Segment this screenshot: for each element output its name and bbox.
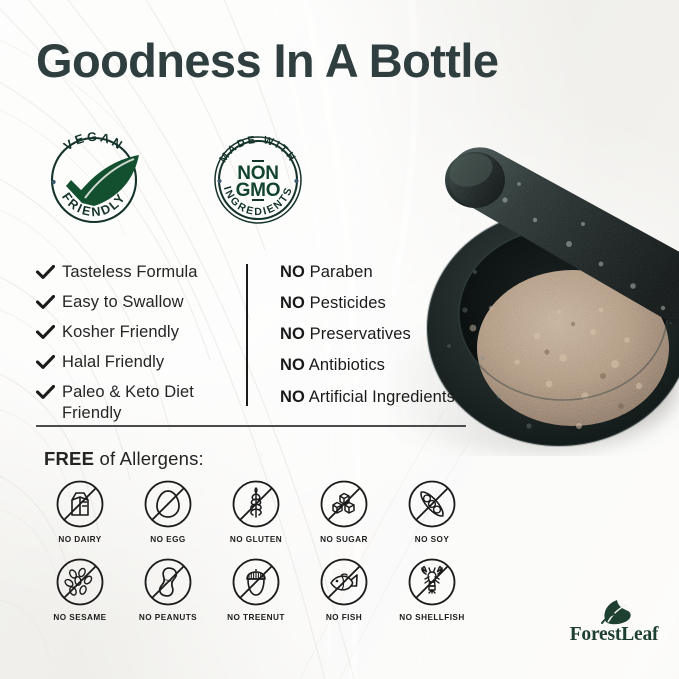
gmo-center-line2: GMO	[236, 180, 281, 201]
list-item: NO Artificial Ingredients	[280, 387, 486, 408]
wheat-icon	[230, 478, 282, 530]
vegan-friendly-badge: VEGAN FRIENDLY	[38, 124, 150, 236]
benefits-list: Tasteless Formula Easy to Swallow Kosher…	[36, 262, 242, 430]
free-from-list: NO Paraben NO Pesticides NO Preservative…	[280, 262, 486, 430]
allergens-heading: FREE of Allergens:	[44, 448, 204, 470]
acorn-icon	[230, 556, 282, 608]
non-gmo-badge: MADE WITH INGREDIENTS NON GMO	[202, 124, 314, 236]
free-from-label: Pesticides	[310, 294, 386, 312]
no-prefix: NO	[280, 294, 305, 312]
allergen-label: NO GLUTEN	[230, 535, 282, 544]
peanut-icon	[142, 556, 194, 608]
allergen-label: NO EGG	[150, 535, 185, 544]
allergen-item-dairy: NO DAIRY	[36, 478, 124, 544]
benefit-label: Halal Friendly	[62, 352, 164, 373]
egg-icon	[142, 478, 194, 530]
brand-name: ForestLeaf	[562, 624, 666, 646]
benefit-label: Easy to Swallow	[62, 292, 184, 313]
check-icon	[36, 382, 62, 405]
free-from-label: Paraben	[310, 263, 373, 281]
no-prefix: NO	[280, 388, 305, 406]
allergen-grid: NO DAIRY NO EGG	[36, 478, 476, 622]
infographic-canvas: Goodness In A Bottle VEGAN FRIENDLY	[0, 0, 679, 679]
list-item: Halal Friendly	[36, 352, 242, 375]
sesame-seeds-icon	[54, 556, 106, 608]
list-item: NO Preservatives	[280, 324, 486, 345]
allergen-label: NO PEANUTS	[139, 613, 197, 622]
vegan-arc-top: VEGAN	[61, 130, 127, 154]
lobster-icon	[406, 556, 458, 608]
allergen-label: NO SOY	[415, 535, 450, 544]
allergen-item-egg: NO EGG	[124, 478, 212, 544]
list-item: NO Paraben	[280, 262, 486, 283]
svg-text:VEGAN: VEGAN	[61, 130, 127, 154]
fish-icon	[318, 556, 370, 608]
free-from-label: Antibiotics	[309, 356, 385, 374]
allergens-heading-bold: FREE	[44, 448, 94, 469]
allergen-item-treenut: NO TREENUT	[212, 556, 300, 622]
allergen-item-fish: NO FISH	[300, 556, 388, 622]
allergen-item-sugar: NO SUGAR	[300, 478, 388, 544]
milk-carton-icon	[54, 478, 106, 530]
check-icon	[36, 262, 62, 285]
allergen-label: NO FISH	[326, 613, 362, 622]
list-item: Paleo & Keto Diet Friendly	[36, 382, 242, 423]
allergen-item-soy: NO SOY	[388, 478, 476, 544]
allergen-item-sesame: NO SESAME	[36, 556, 124, 622]
free-from-label: Preservatives	[310, 325, 411, 343]
certification-badges: VEGAN FRIENDLY	[38, 124, 314, 236]
no-prefix: NO	[280, 263, 305, 281]
check-icon	[36, 352, 62, 375]
allergen-item-shellfish: NO SHELLFISH	[388, 556, 476, 622]
allergens-heading-rest: of Allergens:	[94, 448, 204, 469]
check-icon	[36, 322, 62, 345]
benefit-label: Paleo & Keto Diet Friendly	[62, 382, 210, 423]
allergen-label: NO DAIRY	[58, 535, 101, 544]
check-icon	[36, 292, 62, 315]
soybean-pod-icon	[406, 478, 458, 530]
allergen-label: NO SHELLFISH	[399, 613, 464, 622]
no-prefix: NO	[280, 325, 305, 343]
sugar-cubes-icon	[318, 478, 370, 530]
benefit-label: Kosher Friendly	[62, 322, 179, 343]
allergen-item-gluten: NO GLUTEN	[212, 478, 300, 544]
no-prefix: NO	[280, 356, 305, 374]
allergen-label: NO TREENUT	[227, 613, 285, 622]
brand-logo: ForestLeaf	[562, 598, 666, 650]
allergen-item-peanuts: NO PEANUTS	[124, 556, 212, 622]
list-item: NO Antibiotics	[280, 355, 486, 376]
allergen-label: NO SESAME	[53, 613, 106, 622]
list-item: Easy to Swallow	[36, 292, 242, 315]
feature-lists: Tasteless Formula Easy to Swallow Kosher…	[36, 262, 486, 430]
free-from-label: Artificial Ingredients	[309, 388, 455, 406]
allergen-label: NO SUGAR	[320, 535, 368, 544]
page-title: Goodness In A Bottle	[36, 36, 498, 85]
leaf-icon	[562, 598, 666, 626]
benefit-label: Tasteless Formula	[62, 262, 198, 283]
list-item: Kosher Friendly	[36, 322, 242, 345]
list-item: NO Pesticides	[280, 293, 486, 314]
list-item: Tasteless Formula	[36, 262, 242, 285]
